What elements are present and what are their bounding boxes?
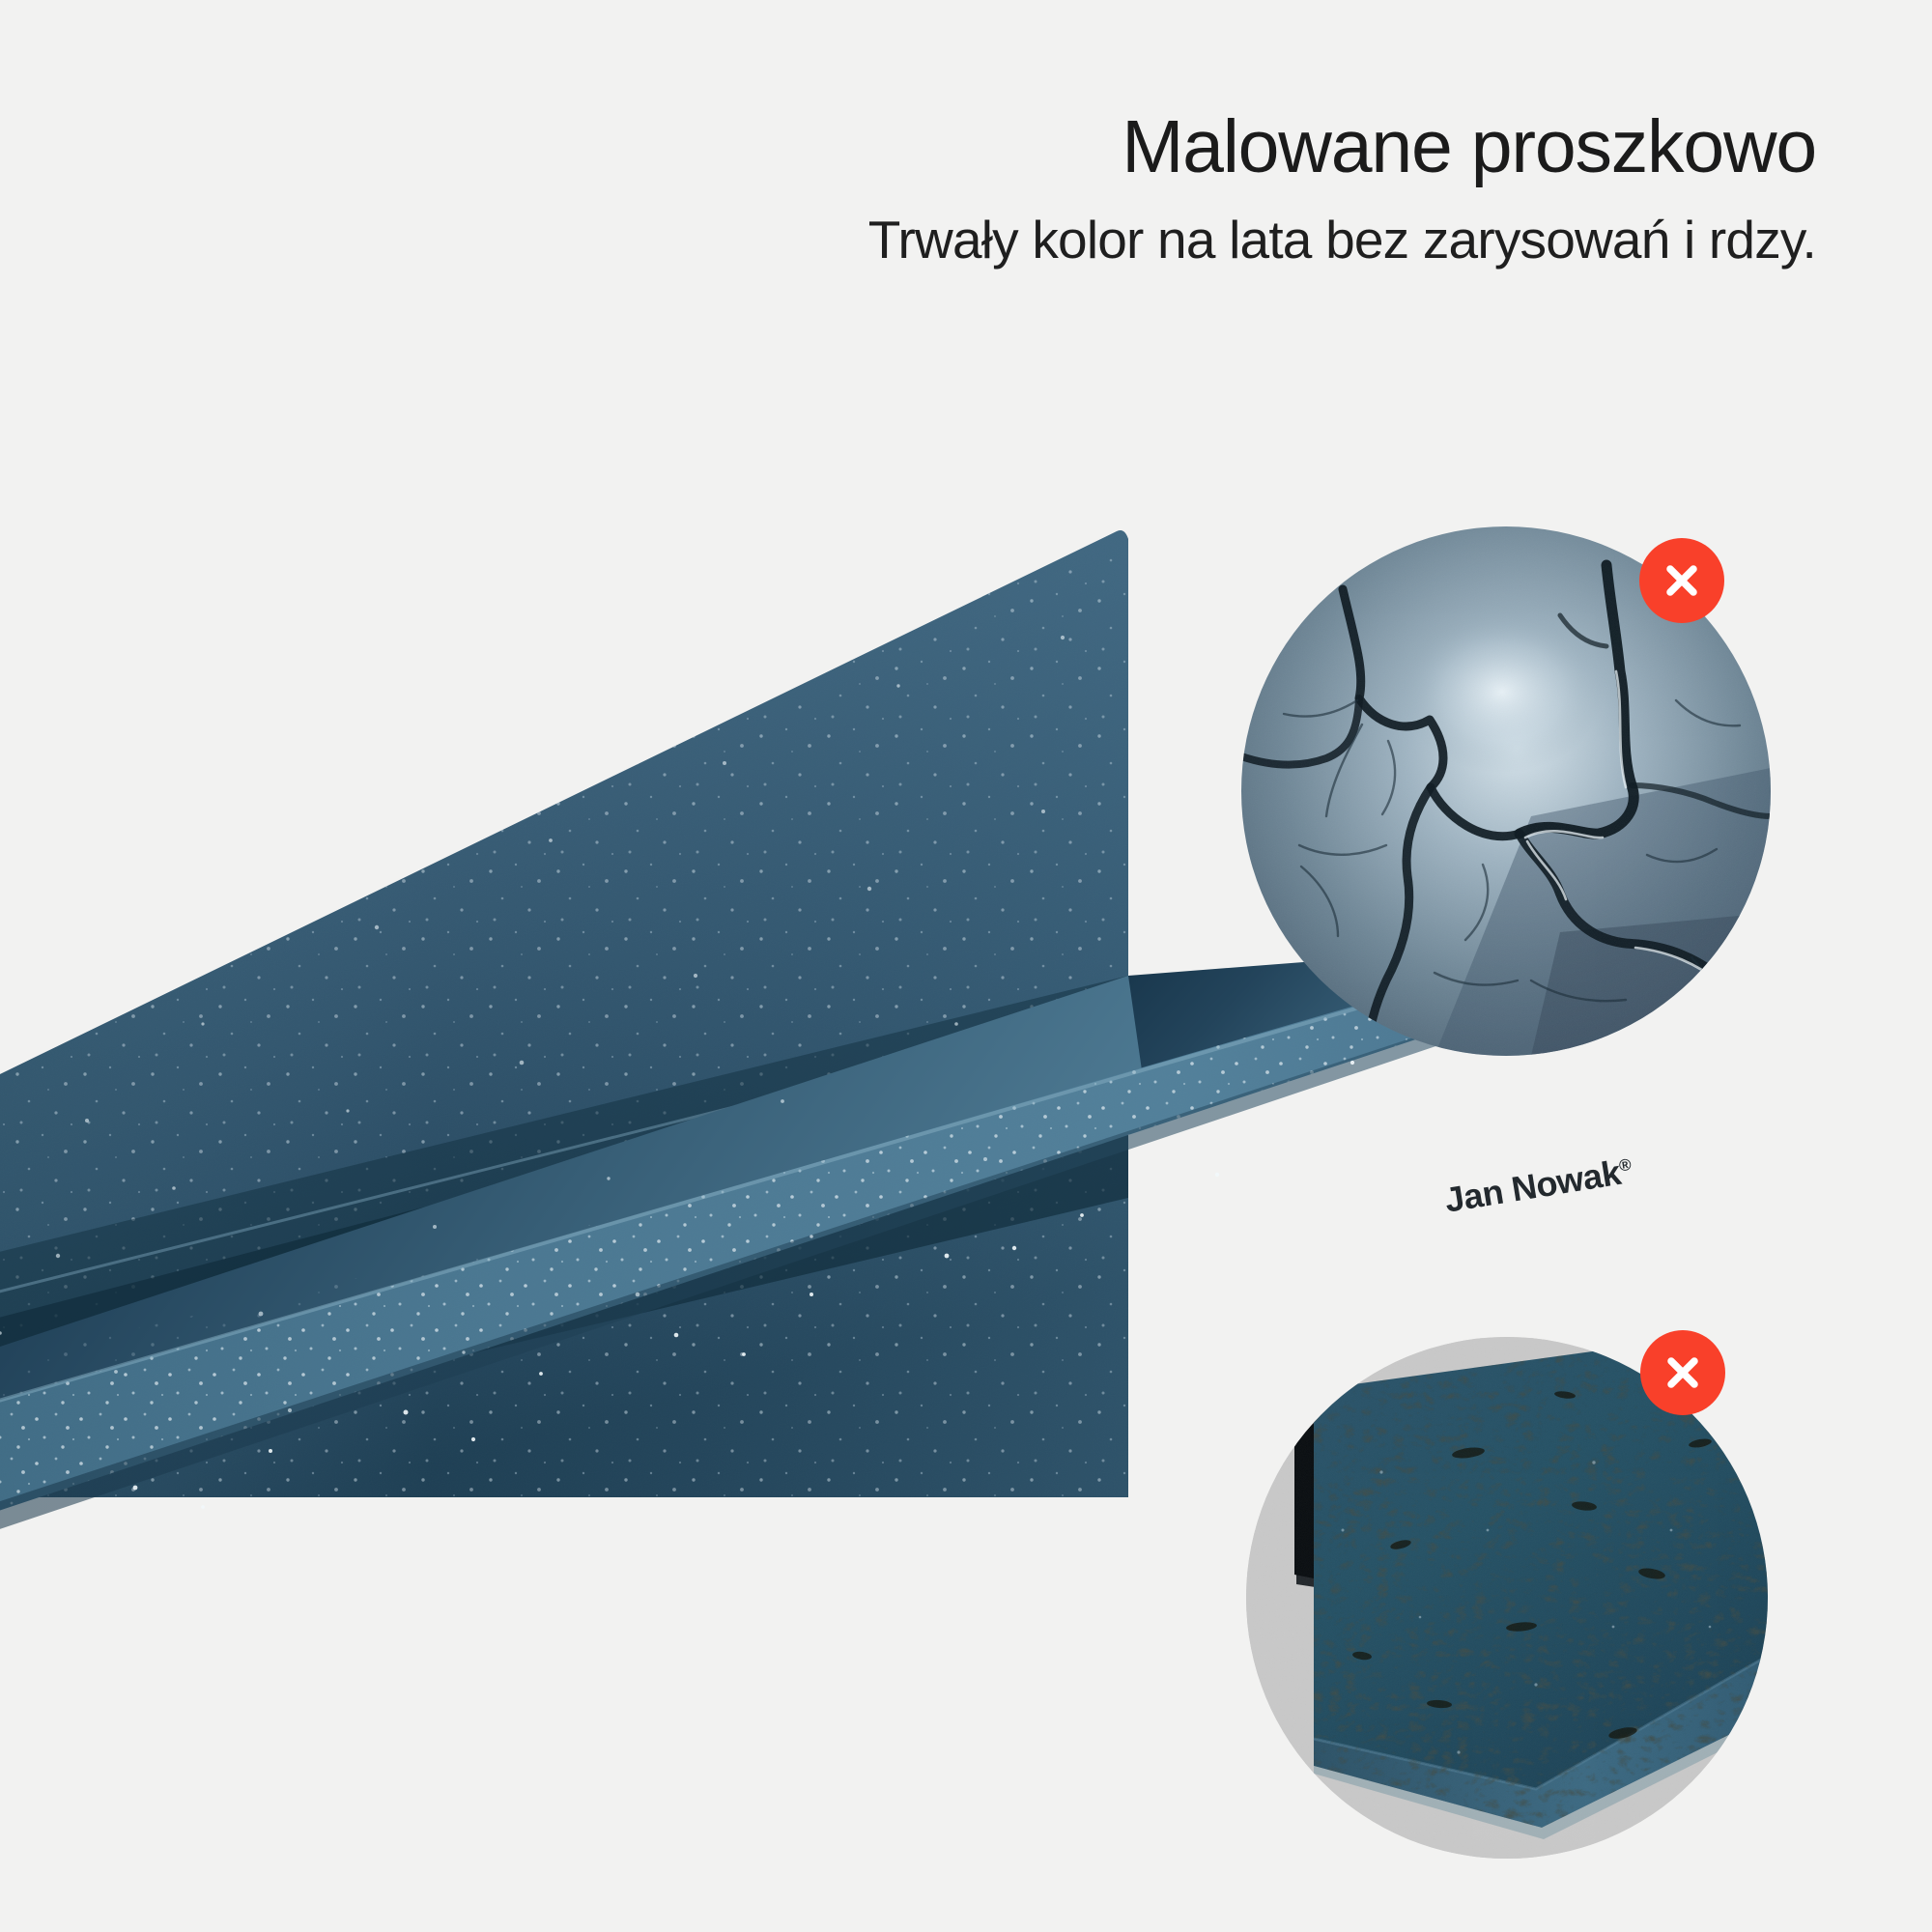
rusted-shelf-texture <box>1246 1337 1768 1859</box>
x-icon <box>1662 1351 1704 1394</box>
x-icon <box>1661 559 1703 602</box>
registered-trademark-symbol: ® <box>1618 1155 1633 1176</box>
page-subtitle: Trwały kolor na lata bez zarysowań i rdz… <box>0 210 1816 270</box>
badge-negative-bottom <box>1640 1330 1725 1415</box>
marketing-banner: Malowane proszkowo Trwały kolor na lata … <box>0 0 1932 1932</box>
badge-negative-top <box>1639 538 1724 623</box>
inset-rusted-shelf <box>1246 1337 1768 1859</box>
header-text-block: Malowane proszkowo Trwały kolor na lata … <box>0 106 1816 270</box>
page-title: Malowane proszkowo <box>0 106 1816 188</box>
